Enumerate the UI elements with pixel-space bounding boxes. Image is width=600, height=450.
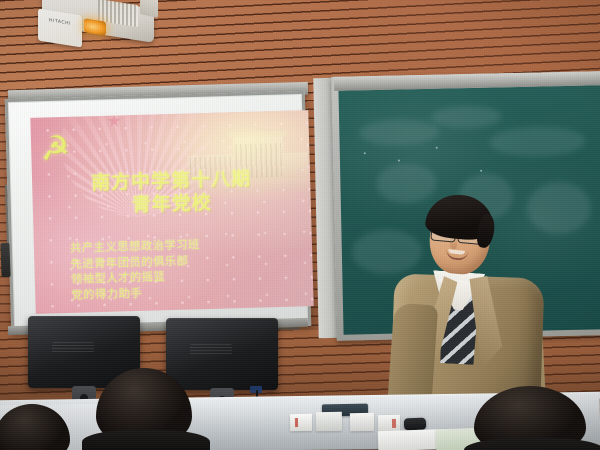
monitor-vent [52, 342, 94, 354]
chalk-dust [480, 170, 482, 172]
chalk-box [378, 415, 400, 432]
student-shoulders [464, 438, 600, 450]
chalk-dust [364, 152, 366, 154]
ceiling-projector: HITACHI [36, 0, 164, 50]
monitor-rear-panel [166, 318, 278, 390]
slide-title-line-1: 南方中学第十八期 [91, 168, 252, 194]
chalk-smudge [489, 126, 586, 158]
projected-slide: ☭ 南方中学第十八期 青年党校 共产主义思想政治学习班 先进青年团员的俱乐部 领… [30, 110, 313, 314]
chalk-smudge [431, 105, 501, 128]
wall-switch-box [0, 243, 10, 277]
classroom-photo: HITACHI ☭ 南方中学第十八期 青年党校 共产主义思想政治学习班 [0, 0, 600, 450]
remote-control [404, 418, 426, 431]
projector-front-panel [38, 9, 82, 48]
chalk-dust [436, 147, 438, 149]
slide-body-list: 共产主义思想政治学习班 先进青年团员的俱乐部 领袖型人才的摇篮 党的得力助手 [70, 234, 302, 302]
hammer-and-sickle-icon: ☭ [39, 129, 81, 167]
chalk-smudge [359, 119, 440, 147]
chalk-box [290, 414, 312, 431]
projector-lens [84, 18, 106, 35]
student-shoulders [82, 430, 210, 450]
chalk-box [316, 412, 342, 431]
chalk-dust [398, 159, 400, 161]
chalk-box [350, 413, 374, 431]
slide-title: 南方中学第十八期 青年党校 [32, 166, 311, 220]
monitor-vent [190, 344, 232, 356]
